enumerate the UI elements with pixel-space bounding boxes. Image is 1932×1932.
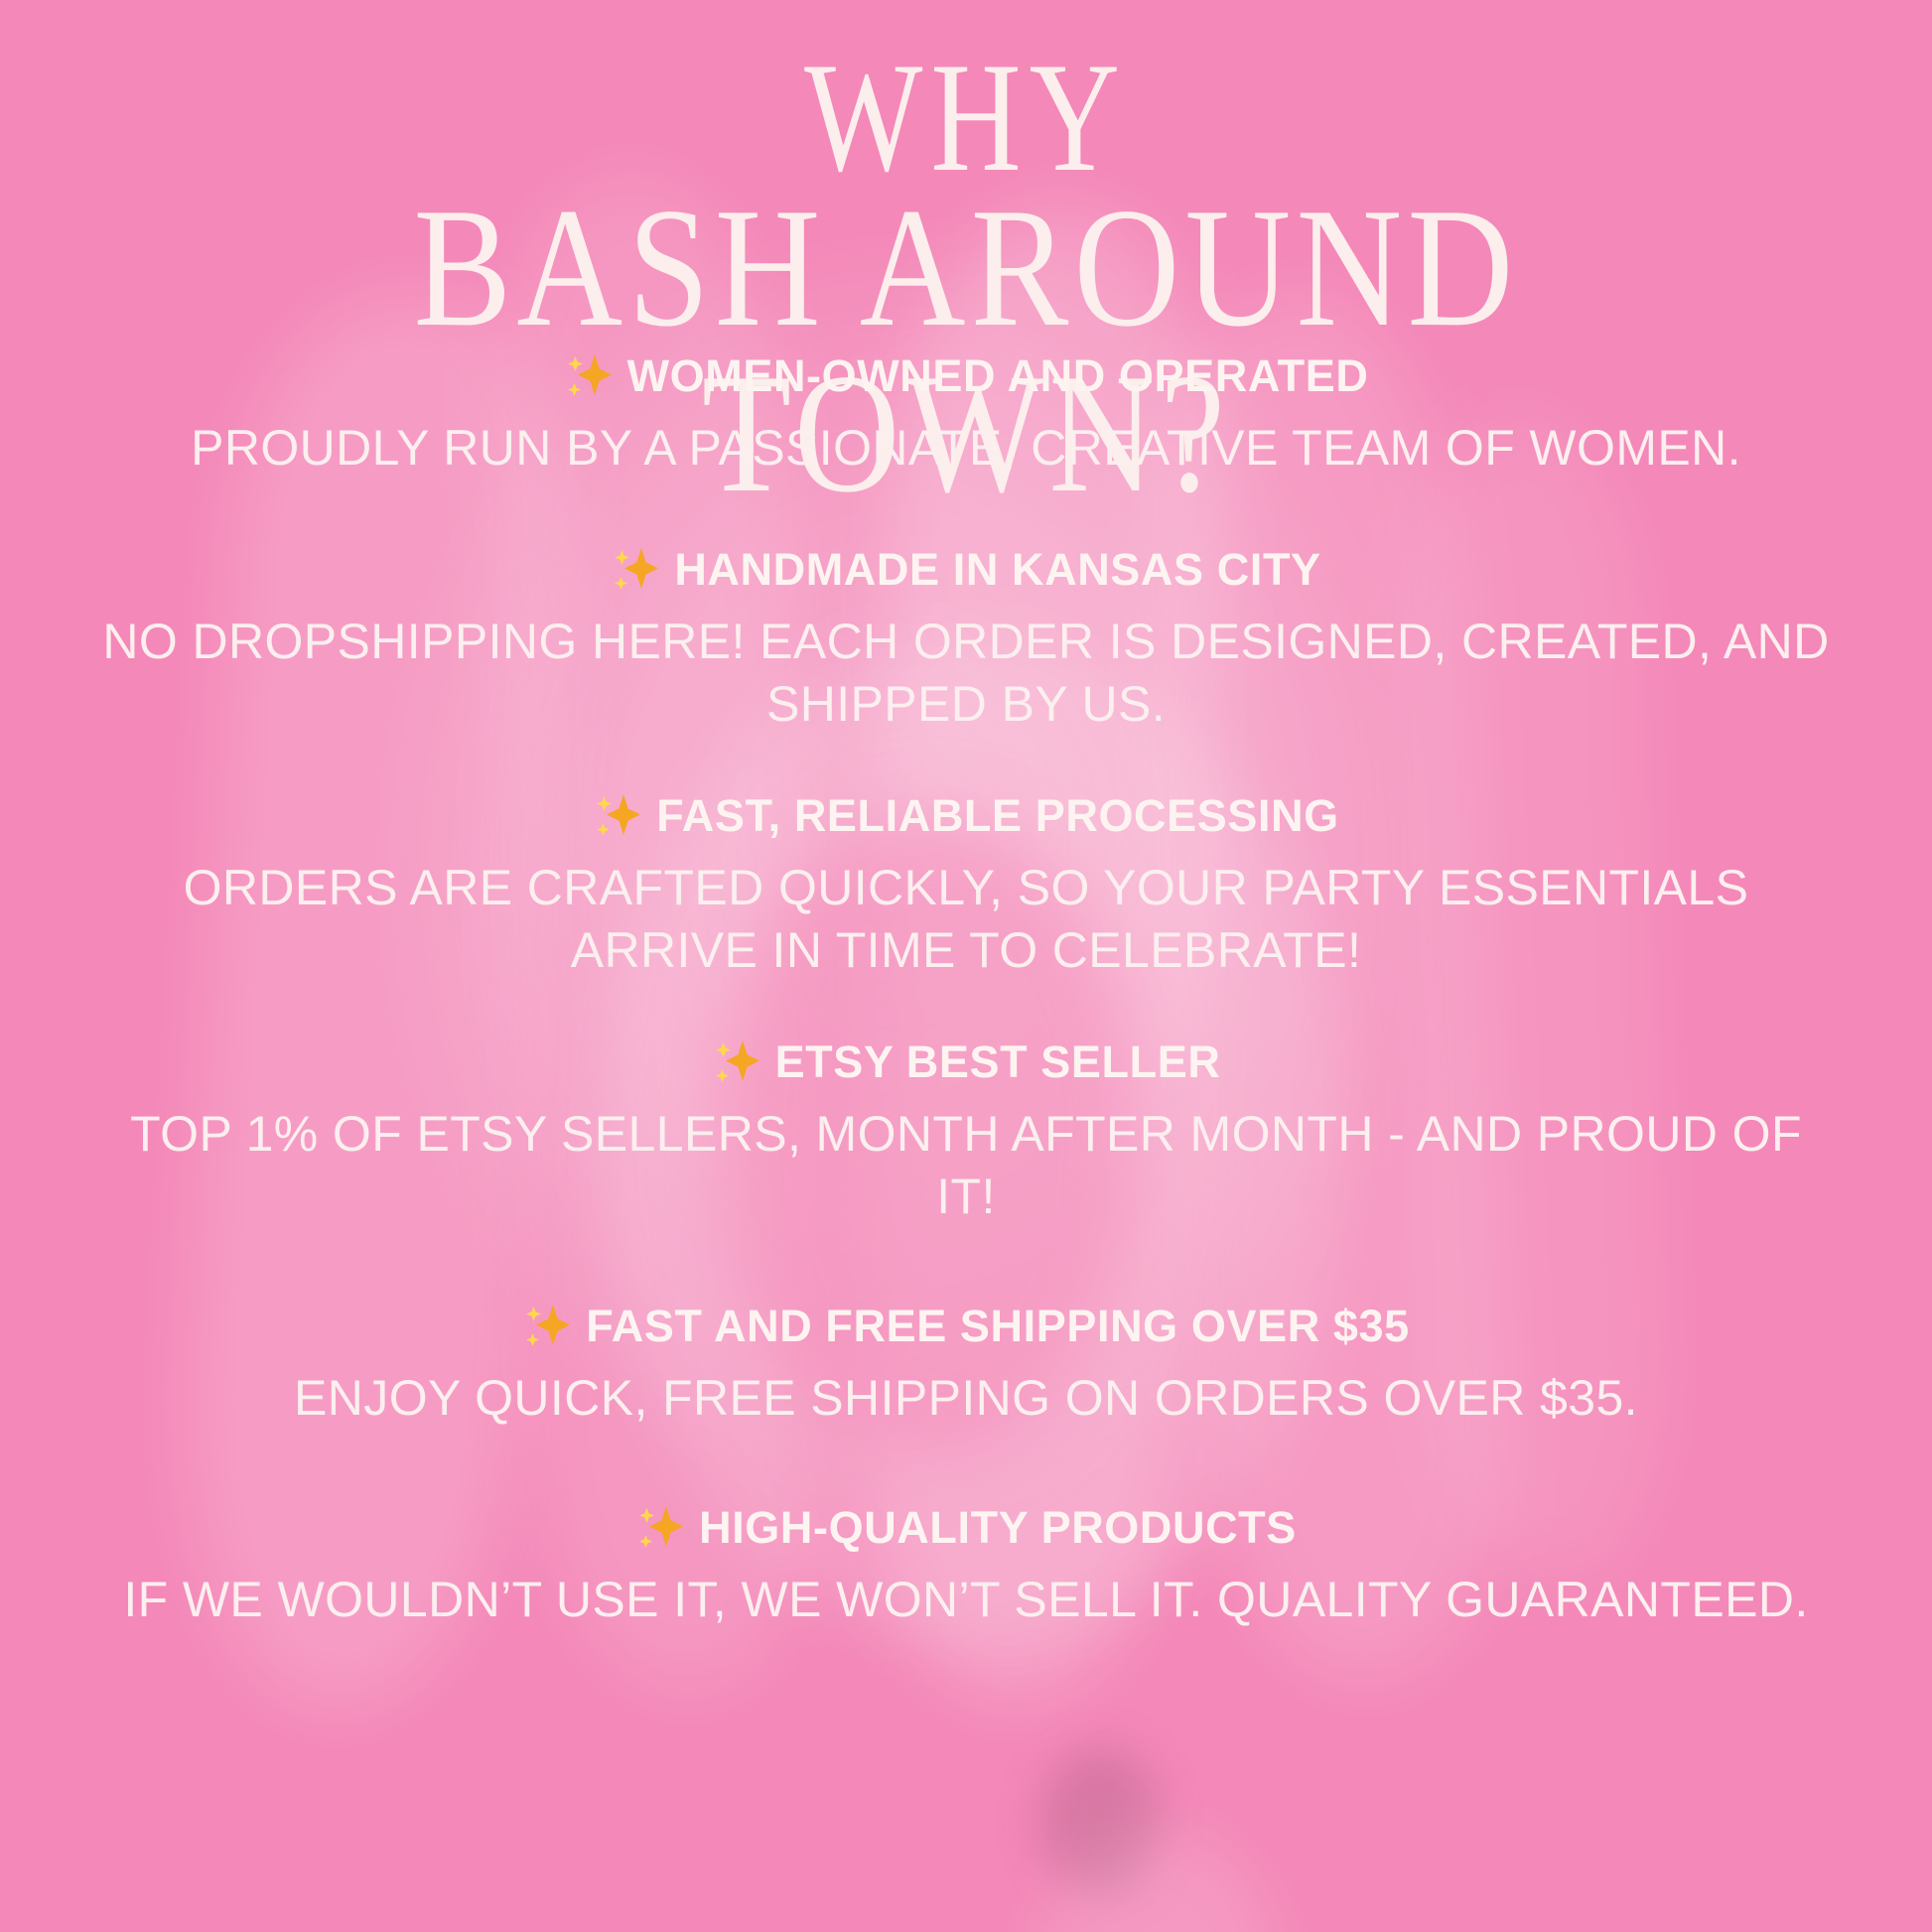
- sparkles-icon: [593, 790, 642, 844]
- feature-item: HIGH-QUALITY PRODUCTS IF WE WOULDN’T USE…: [63, 1501, 1869, 1631]
- feature-description: IF WE WOULDN’T USE IT, WE WON’T SELL IT.…: [63, 1569, 1869, 1631]
- feature-heading-row: FAST, RELIABLE PROCESSING: [63, 789, 1869, 843]
- feature-description: ORDERS ARE CRAFTED QUICKLY, SO YOUR PART…: [63, 857, 1869, 982]
- feature-item: FAST AND FREE SHIPPING OVER $35 ENJOY QU…: [63, 1300, 1869, 1430]
- sparkles-icon: [635, 1502, 685, 1556]
- watermark-smudge: [1040, 1747, 1160, 1896]
- feature-heading-row: HANDMADE IN KANSAS CITY: [63, 543, 1869, 597]
- feature-heading-text: FAST, RELIABLE PROCESSING: [656, 790, 1339, 842]
- feature-description: PROUDLY RUN BY A PASSIONATE, CREATIVE TE…: [63, 417, 1869, 480]
- feature-heading-text: HANDMADE IN KANSAS CITY: [674, 544, 1320, 596]
- feature-item: ETSY BEST SELLER TOP 1% OF ETSY SELLERS,…: [63, 1035, 1869, 1228]
- feature-list: WOMEN-OWNED AND OPERATED PROUDLY RUN BY …: [63, 349, 1869, 1631]
- promo-graphic: WHY BASH AROUND TOWN? WOMEN-OWNED AND OP…: [0, 0, 1932, 1932]
- feature-item: HANDMADE IN KANSAS CITY NO DROPSHIPPING …: [63, 543, 1869, 736]
- feature-heading-text: WOMEN-OWNED AND OPERATED: [627, 350, 1369, 402]
- feature-heading-row: ETSY BEST SELLER: [63, 1035, 1869, 1089]
- feature-heading-row: HIGH-QUALITY PRODUCTS: [63, 1501, 1869, 1555]
- sparkles-icon: [712, 1036, 761, 1090]
- feature-heading-text: HIGH-QUALITY PRODUCTS: [699, 1502, 1297, 1554]
- sparkles-icon: [611, 544, 660, 598]
- feature-item: FAST, RELIABLE PROCESSING ORDERS ARE CRA…: [63, 789, 1869, 982]
- feature-description: NO DROPSHIPPING HERE! EACH ORDER IS DESI…: [63, 611, 1869, 736]
- sparkles-icon: [522, 1301, 572, 1354]
- feature-heading-text: ETSY BEST SELLER: [775, 1036, 1221, 1088]
- watermark-balloon-tail: [1033, 1827, 1281, 1932]
- feature-heading-row: FAST AND FREE SHIPPING OVER $35: [63, 1300, 1869, 1353]
- feature-item: WOMEN-OWNED AND OPERATED PROUDLY RUN BY …: [63, 349, 1869, 480]
- feature-heading-text: FAST AND FREE SHIPPING OVER $35: [586, 1301, 1410, 1352]
- feature-description: TOP 1% OF ETSY SELLERS, MONTH AFTER MONT…: [63, 1103, 1869, 1228]
- feature-heading-row: WOMEN-OWNED AND OPERATED: [63, 349, 1869, 403]
- page-title-line-1: WHY: [194, 42, 1739, 194]
- feature-description: ENJOY QUICK, FREE SHIPPING ON ORDERS OVE…: [63, 1367, 1869, 1430]
- sparkles-icon: [564, 350, 614, 404]
